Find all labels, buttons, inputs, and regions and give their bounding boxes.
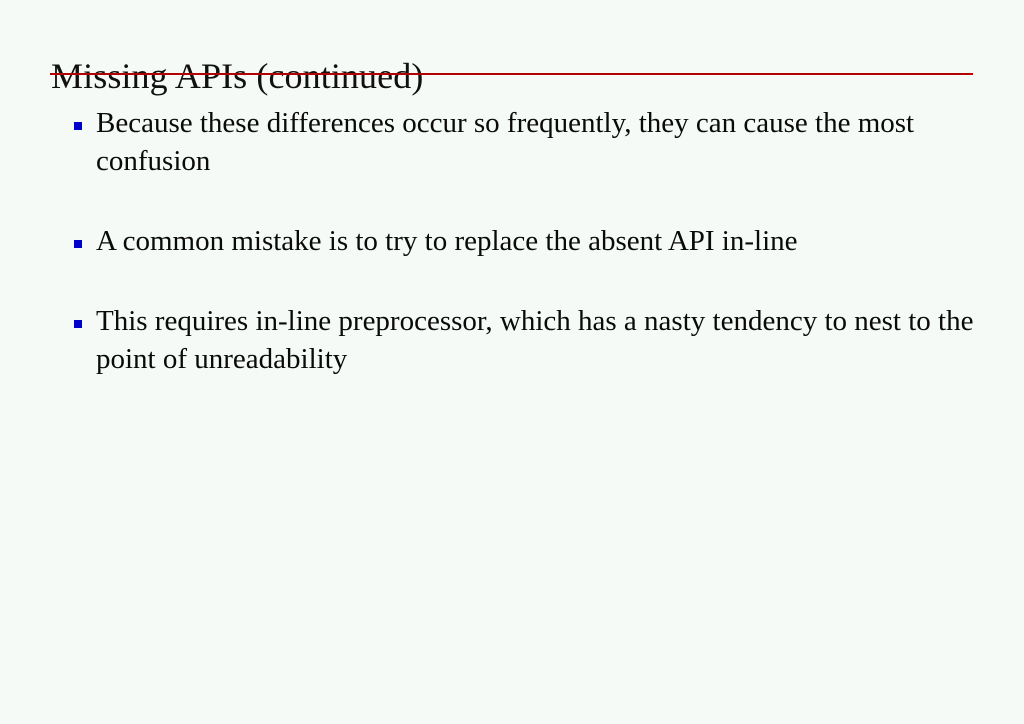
list-item-text: A common mistake is to try to replace th… [96, 222, 976, 260]
list-item: This requires in-line preprocessor, whic… [0, 302, 1024, 378]
title-underline-rule [50, 73, 973, 75]
list-item-text: Because these differences occur so frequ… [96, 104, 976, 180]
square-bullet-icon [74, 122, 82, 130]
page-title: Missing APIs (continued) [51, 54, 423, 98]
list-item: Because these differences occur so frequ… [0, 104, 1024, 180]
bullet-list: Because these differences occur so frequ… [0, 104, 1024, 378]
square-bullet-icon [74, 320, 82, 328]
square-bullet-icon [74, 240, 82, 248]
list-item-text: This requires in-line preprocessor, whic… [96, 302, 976, 378]
list-item: A common mistake is to try to replace th… [0, 222, 1024, 260]
slide: Missing APIs (continued) Because these d… [0, 0, 1024, 724]
